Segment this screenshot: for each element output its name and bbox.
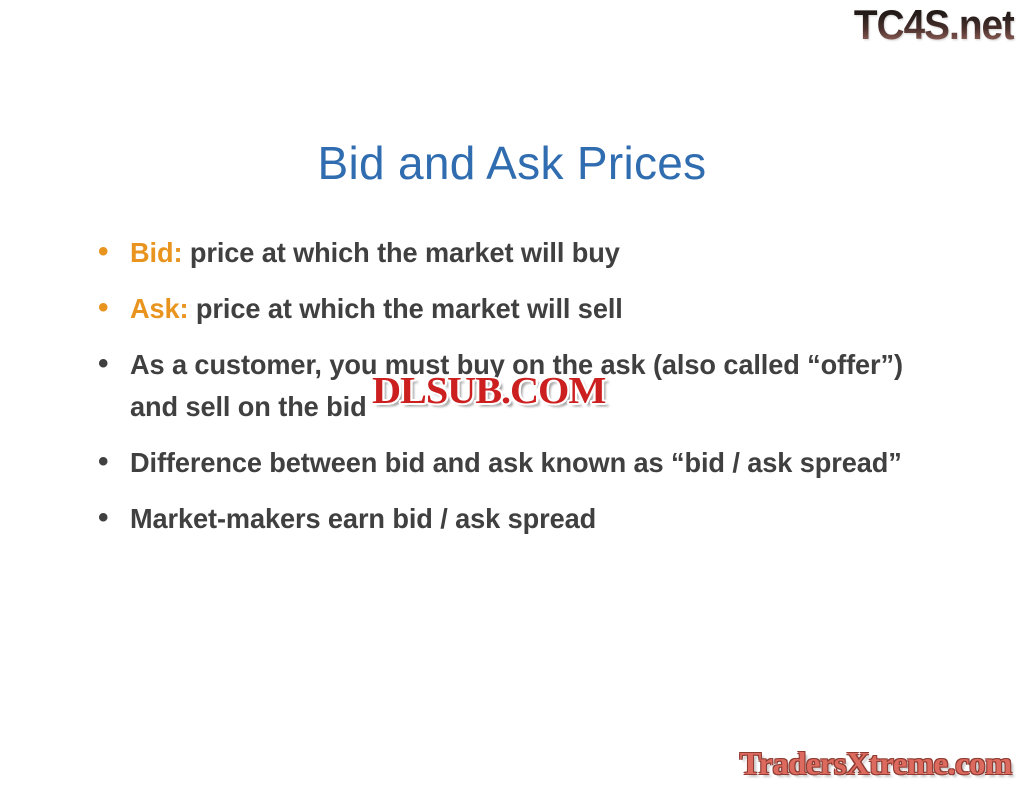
list-item: • Difference between bid and ask known a… bbox=[92, 442, 952, 484]
list-item-body: price at which the market will sell bbox=[188, 293, 622, 324]
tradersxtreme-watermark: TradersXtreme.com bbox=[740, 745, 1012, 781]
bullet-marker-icon: • bbox=[92, 288, 130, 328]
bullet-marker-icon: • bbox=[92, 442, 130, 482]
list-item-lead: Ask: bbox=[130, 293, 188, 324]
list-item-body: price at which the market will buy bbox=[182, 237, 619, 268]
list-item: • Market-makers earn bid / ask spread bbox=[92, 498, 952, 540]
page-title: Bid and Ask Prices bbox=[0, 136, 1024, 190]
bullet-marker-icon: • bbox=[92, 232, 130, 272]
tc4s-watermark: TC4S.net bbox=[854, 2, 1014, 48]
list-item-text: Difference between bid and ask known as … bbox=[130, 442, 927, 484]
list-item-text: Ask: price at which the market will sell bbox=[130, 288, 927, 330]
bullet-marker-icon: • bbox=[92, 344, 130, 384]
list-item: • Ask: price at which the market will se… bbox=[92, 288, 952, 330]
dlsub-watermark: DLSUB.COM bbox=[372, 371, 605, 411]
list-item-lead: Bid: bbox=[130, 237, 182, 268]
slide-canvas: TC4S.net Bid and Ask Prices • Bid: price… bbox=[0, 0, 1024, 791]
list-item: • Bid: price at which the market will bu… bbox=[92, 232, 952, 274]
list-item-text: Market-makers earn bid / ask spread bbox=[130, 498, 927, 540]
bullet-marker-icon: • bbox=[92, 498, 130, 538]
list-item-text: Bid: price at which the market will buy bbox=[130, 232, 927, 274]
